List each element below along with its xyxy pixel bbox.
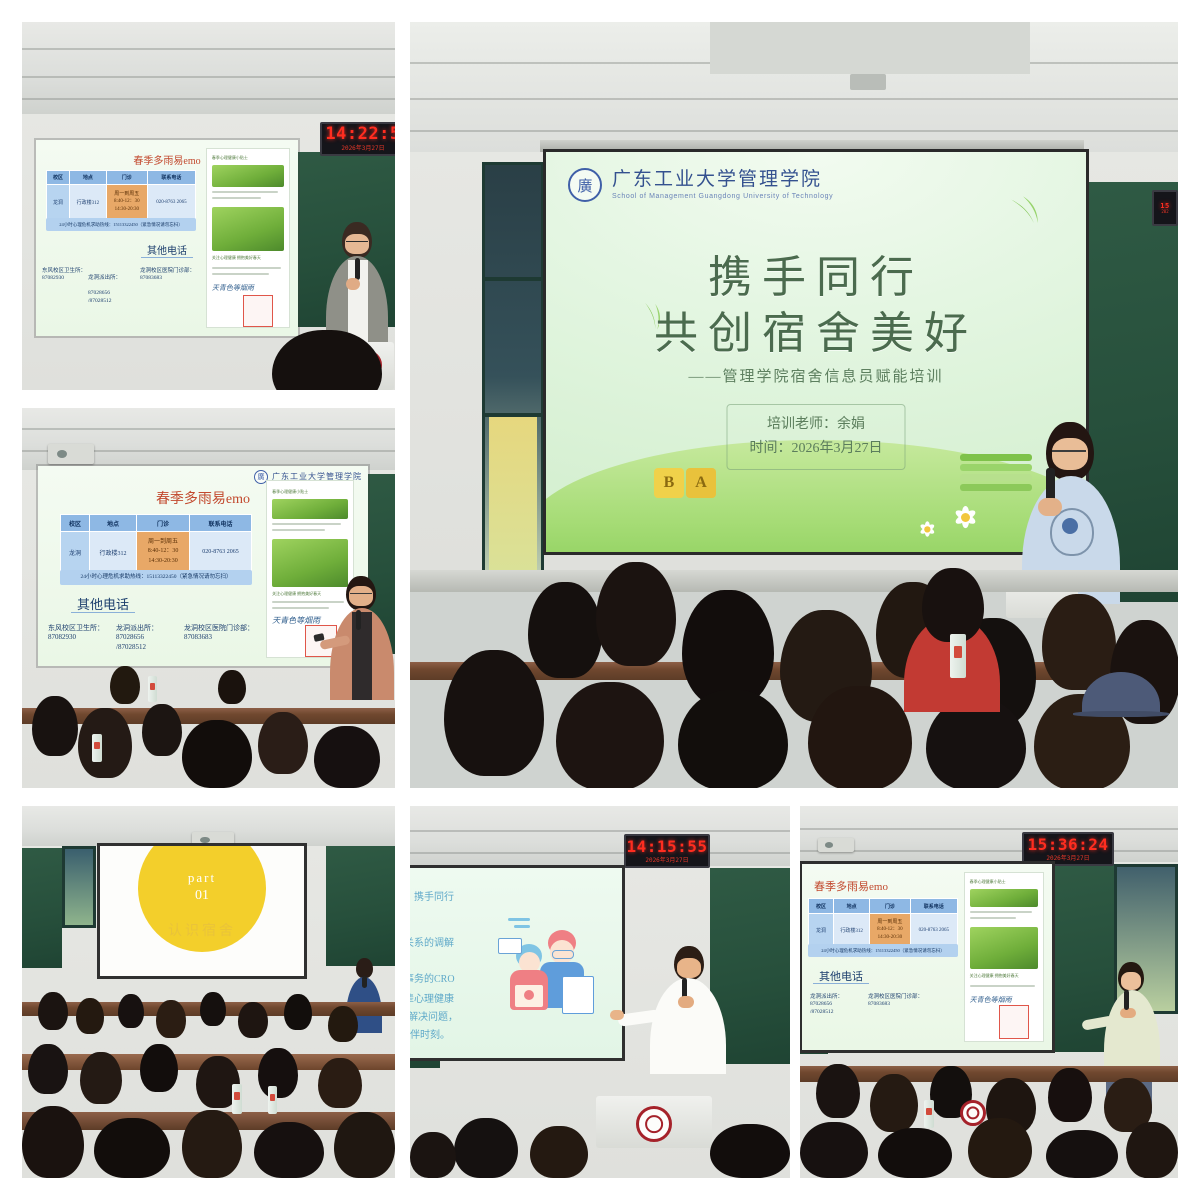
daisy-icon [952,504,978,530]
highlight-box [999,1005,1029,1039]
desk-row [410,570,1178,592]
slide-emo: 春季多雨易emo 校区 地点 门诊 联系电话 龙洞 行政楼312 周一到周五 8… [802,864,1052,1050]
contact-police-label: 龙洞派出所： [810,994,843,1001]
td-place: 行政楼312 [70,185,107,220]
td-phone: 020-8763 2065 [147,185,195,220]
water-bottle [950,634,966,678]
td-place: 行政楼312 [834,914,870,947]
contact-hospital: 龙洞校区医院门诊部： 87083683 [868,994,923,1009]
projection-screen: 携手同行 宿舍关系的调解 宿舍事务的CRO 朋辈心理健康 共同解决问题， 陪伴时… [410,868,622,1058]
water-bottle [148,676,157,702]
slide-illustration: 携手同行 宿舍关系的调解 宿舍事务的CRO 朋辈心理健康 共同解决问题， 陪伴时… [410,868,622,1058]
contact-hospital-label: 龙洞校区医院门诊部： [868,994,923,1001]
title-subtitle: ——管理学院宿舍信息员赋能培训 [546,365,1086,386]
clock-time: 14:15:55 [626,839,707,855]
td-phone: 020-8763 2065 [910,914,957,947]
photo-mid-left-female-speaker-pointing: 廣 广东工业大学管理学院 春季多雨易emo 校区 地点 门诊 联系电话 龙洞 [22,408,395,788]
gdut-seal-logo [960,1100,986,1126]
td-campus: 龙洞 [47,185,70,220]
td-clinic: 周一到周五 8:40-12：30 14:30-20:30 [870,914,910,947]
clock-time: 14:22:5 [325,126,395,143]
phone-caption: 关注心理健康 拥抱美好春天 [970,973,1019,979]
title-line-2: 共创宿舍美好 [546,306,1086,362]
contact-police: 龙洞派出所： 87028656 /87028512 [116,624,158,652]
other-phones-heading-text: 其他电话 [813,971,869,984]
projection-screen: 春季多雨易emo 校区 地点 门诊 联系电话 龙洞 行政楼312 周一到周五 8… [36,140,298,336]
ceiling [410,22,1178,152]
td-place: 行政楼312 [90,532,137,573]
phone-app-title: 春季心理健康小贴士 [970,879,1006,885]
slide-title-block: 携手同行 共创宿舍美好 ——管理学院宿舍信息员赋能培训 [546,250,1086,386]
contact-hospital-number: 87083683 [140,275,195,282]
clock-date: 2026年3月27日 [341,146,384,152]
swallow-icon [1008,194,1048,235]
contact-hospital-label: 龙洞校区医院门诊部： [140,268,195,275]
part-number: 01 [100,888,304,904]
photo-bottom-left-lecture-hall: part 01 认识宿舍 [22,806,395,1178]
photo-main-title-slide: 15 202 廣 广东工业大学管理学院 School of Management… [410,22,1178,788]
contact-clinic-number: 87082930 [42,275,86,282]
other-phones-heading: 其他电话 [802,968,966,984]
th-campus: 校区 [61,515,90,532]
th-phone: 联系电话 [189,515,251,532]
other-phones-heading: 其他电话 [38,594,268,613]
gdut-seal-logo [636,1106,672,1142]
contact-hospital-number: 87083683 [184,633,254,642]
phone-hand-note: 天青色等烟雨 [212,283,254,293]
water-bottle [924,1100,934,1128]
crisis-hotline: 24小时心理危机求助热线：15113322450（紧急情况请勿忘扫） [46,218,196,231]
digital-clock: 14:22:5 2026年3月27日 [320,122,395,156]
illus-line-4: 朋辈心理健康 [410,990,454,1005]
th-campus: 校区 [47,171,70,185]
water-bottle [92,734,102,762]
block-b: B [654,468,684,498]
th-clinic: 门诊 [106,171,147,185]
slide-emo: 春季多雨易emo 校区 地点 门诊 联系电话 龙洞 行政楼312 周一到周五 8… [36,140,298,336]
contact-hospital: 龙洞校区医院门诊部： 87083683 [184,624,254,643]
phone-screenshot: 春季心理健康小贴士 关注心理健康 拥抱美好春天 天青色等烟雨 [206,148,290,328]
digital-clock: 15 202 [1152,190,1178,226]
phone-hand-note: 天青色等烟雨 [970,995,1012,1005]
clock-date: 2026年3月27日 [1046,856,1089,862]
title-line-1: 携手同行 [546,250,1086,306]
photo-bottom-right-female-speaker: 15:36:24 2026年3月27日 春季多雨易emo 校区 地点 门诊 联系… [800,806,1178,1178]
gdut-seal: 廣 [568,168,602,202]
clock-time: 15:36:24 [1027,837,1108,853]
digital-clock: 15:36:24 2026年3月27日 [1022,832,1114,866]
illus-line-2: 宿舍关系的调解 [410,934,454,949]
td-campus: 龙洞 [809,914,834,947]
window [482,162,544,592]
phone-screenshot: 春季心理健康小贴士 关注心理健康 拥抱美好春天 天青色等烟雨 [964,872,1044,1042]
contact-police-number: 87028656 /87028512 [116,633,158,652]
part-caption: 认识宿舍 [100,920,304,940]
part-label: part [100,870,304,886]
th-place: 地点 [834,899,870,914]
contact-hospital-label: 龙洞校区医院门诊部： [184,624,254,633]
brand-cn: 广东工业大学管理学院 [612,170,833,191]
contact-police: 龙洞派出所： 87028656 /87028512 [810,994,843,1016]
projector [48,444,94,464]
clinic-table: 校区 地点 门诊 联系电话 龙洞 行政楼312 周一到周五 8:40-12：30… [60,514,252,573]
contact-police-label: 龙洞派出所： [88,275,121,282]
td-clinic: 周一到周五 8:40-12：30 14:30-20:30 [106,185,147,220]
photo-collage: 14:22:5 2026年3月27日 春季多雨易emo 校区 地点 门诊 联系电… [0,0,1200,1200]
ceiling [410,806,790,866]
brand-row: 廣 广东工业大学管理学院 School of Management Guangd… [568,168,833,202]
speaker-female-pink-blazer [320,576,395,726]
contact-clinic-label: 东风校区卫生所： [42,268,86,275]
alphabet-blocks: B A [654,468,716,498]
ceiling [22,22,395,114]
other-phones-heading-text: 其他电话 [141,246,193,258]
meta-teacher: 培训老师：余娟 [750,413,883,437]
illus-line-5: 共同解决问题， [410,1008,458,1023]
th-phone: 联系电话 [147,171,195,185]
photo-top-left-male-speaker: 14:22:5 2026年3月27日 春季多雨易emo 校区 地点 门诊 联系电… [22,22,395,390]
contact-hospital-number: 87083683 [868,1001,923,1008]
blackboard [326,846,395,966]
water-bottle [232,1084,242,1114]
td-campus: 龙洞 [61,532,90,573]
contact-clinic: 东风校区卫生所： 87082930 [42,268,86,283]
th-clinic: 门诊 [137,515,190,532]
slide-part: part 01 认识宿舍 [100,846,304,976]
crisis-hotline: 24小时心理危机求助热线：15113322450（紧急情况请勿忘扫） [60,570,252,585]
clinic-table: 校区 地点 门诊 联系电话 龙洞 行政楼312 周一到周五 8:40-12：30… [46,170,196,220]
contact-clinic-label: 东风校区卫生所： [48,624,104,633]
slide-meta-box: 培训老师：余娟 时间：2026年3月27日 [727,404,906,470]
contact-police-number: 87028656 /87028512 [88,290,121,305]
illus-line-6: 陪伴时刻。 [410,1026,450,1041]
phone-app-title: 春季心理健康小贴士 [212,155,248,161]
phone-caption: 关注心理健康 拥抱美好春天 [272,591,321,597]
th-campus: 校区 [809,899,834,914]
th-clinic: 门诊 [870,899,910,914]
highlight-box [243,295,273,327]
screen-rail [540,140,1084,152]
water-bottle [268,1086,277,1114]
projector [818,838,854,852]
daisy-icon [918,520,936,538]
projection-screen: part 01 认识宿舍 [100,846,304,976]
contact-clinic-number: 87082930 [48,633,104,642]
th-place: 地点 [90,515,137,532]
contact-police-number: 87028656 /87028512 [810,1001,843,1016]
illus-line-3: 宿舍事务的CRO [410,970,455,985]
clock-date: 202 [1161,210,1168,214]
th-phone: 联系电话 [910,899,957,914]
meta-date: 时间：2026年3月27日 [750,437,883,461]
photo-bottom-mid-male-speaker: 14:15:55 2026年3月27日 携手同行 宿舍关系的调解 宿舍事务的CR… [410,806,790,1178]
crisis-hotline: 24小时心理危机求助热线：15113322450（紧急情况请勿忘扫） [808,944,958,957]
th-place: 地点 [70,171,107,185]
clock-date: 2026年3月27日 [645,858,688,864]
projection-screen: 廣 广东工业大学管理学院 School of Management Guangd… [546,152,1086,552]
ceiling [800,806,1178,862]
blackboard [22,848,62,968]
clinic-table: 校区 地点 门诊 联系电话 龙洞 行政楼312 周一到周五 8:40-12：30… [808,898,958,947]
brand-en: School of Management Guangdong Universit… [612,193,833,200]
digital-clock: 14:15:55 2026年3月27日 [624,834,710,868]
contact-police: 龙洞派出所： 87028656 /87028512 [88,268,121,313]
td-phone: 020-8763 2065 [189,532,251,573]
students-illustration [506,914,610,1032]
slide-title: 廣 广东工业大学管理学院 School of Management Guangd… [546,152,1086,552]
other-phones-heading-text: 其他电话 [71,597,135,613]
contact-clinic: 东风校区卫生所： 87082930 [48,624,104,643]
td-clinic: 周一到周五 8:40-12：30 14:30-20:30 [137,532,190,573]
projection-screen: 春季多雨易emo 校区 地点 门诊 联系电话 龙洞 行政楼312 周一到周五 8… [802,864,1052,1050]
contact-hospital: 龙洞校区医院门诊部： 87083683 [140,268,195,283]
window [62,846,96,928]
contact-police-label: 龙洞派出所： [116,624,158,633]
phone-app-title: 春季心理健康小贴士 [272,489,308,495]
block-a: A [686,468,716,498]
illus-line-1: 携手同行 [414,888,454,903]
phone-caption: 关注心理健康 拥抱美好春天 [212,255,261,261]
